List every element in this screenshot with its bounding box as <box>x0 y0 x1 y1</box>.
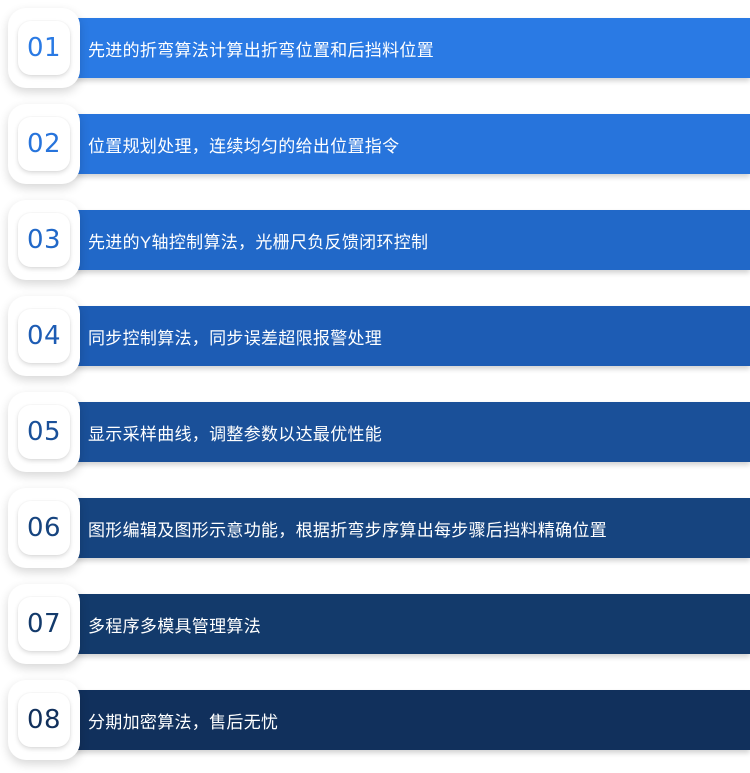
feature-number-badge-inner: 07 <box>18 597 70 651</box>
feature-text: 分期加密算法，售后无忧 <box>88 690 742 750</box>
feature-row: 08 分期加密算法，售后无忧 <box>0 672 750 768</box>
feature-number-badge-inner: 04 <box>18 309 70 363</box>
feature-number-badge[interactable]: 02 <box>8 104 80 184</box>
feature-number: 08 <box>27 707 61 733</box>
feature-row: 06 图形编辑及图形示意功能，根据折弯步序算出每步骤后挡料精确位置 <box>0 480 750 576</box>
feature-text: 显示采样曲线，调整参数以达最优性能 <box>88 402 742 462</box>
feature-number-badge[interactable]: 04 <box>8 296 80 376</box>
feature-row: 02 位置规划处理，连续均匀的给出位置指令 <box>0 96 750 192</box>
feature-row: 05 显示采样曲线，调整参数以达最优性能 <box>0 384 750 480</box>
feature-number: 04 <box>27 323 61 349</box>
feature-text: 多程序多模具管理算法 <box>88 594 742 654</box>
feature-number: 01 <box>27 35 61 61</box>
feature-number-badge[interactable]: 05 <box>8 392 80 472</box>
feature-number-badge[interactable]: 06 <box>8 488 80 568</box>
feature-number: 06 <box>27 515 61 541</box>
feature-number-badge-inner: 05 <box>18 405 70 459</box>
feature-text: 同步控制算法，同步误差超限报警处理 <box>88 306 742 366</box>
feature-number-badge-inner: 06 <box>18 501 70 555</box>
feature-number: 05 <box>27 419 61 445</box>
feature-text: 先进的Y轴控制算法，光栅尺负反馈闭环控制 <box>88 210 742 270</box>
feature-number-badge-inner: 03 <box>18 213 70 267</box>
feature-text: 先进的折弯算法计算出折弯位置和后挡料位置 <box>88 18 742 78</box>
feature-number-badge-inner: 08 <box>18 693 70 747</box>
feature-number-badge[interactable]: 01 <box>8 8 80 88</box>
feature-number: 07 <box>27 611 61 637</box>
feature-number-badge[interactable]: 08 <box>8 680 80 760</box>
feature-row: 03 先进的Y轴控制算法，光栅尺负反馈闭环控制 <box>0 192 750 288</box>
feature-number-badge[interactable]: 03 <box>8 200 80 280</box>
feature-row: 04 同步控制算法，同步误差超限报警处理 <box>0 288 750 384</box>
feature-number-badge[interactable]: 07 <box>8 584 80 664</box>
feature-number-badge-inner: 01 <box>18 21 70 75</box>
feature-row: 01 先进的折弯算法计算出折弯位置和后挡料位置 <box>0 0 750 96</box>
feature-text: 图形编辑及图形示意功能，根据折弯步序算出每步骤后挡料精确位置 <box>88 498 742 558</box>
feature-number: 02 <box>27 131 61 157</box>
feature-number: 03 <box>27 227 61 253</box>
feature-row: 07 多程序多模具管理算法 <box>0 576 750 672</box>
feature-text: 位置规划处理，连续均匀的给出位置指令 <box>88 114 742 174</box>
feature-list: 01 先进的折弯算法计算出折弯位置和后挡料位置 02 位置规划处理，连续均匀的给… <box>0 0 750 773</box>
feature-number-badge-inner: 02 <box>18 117 70 171</box>
